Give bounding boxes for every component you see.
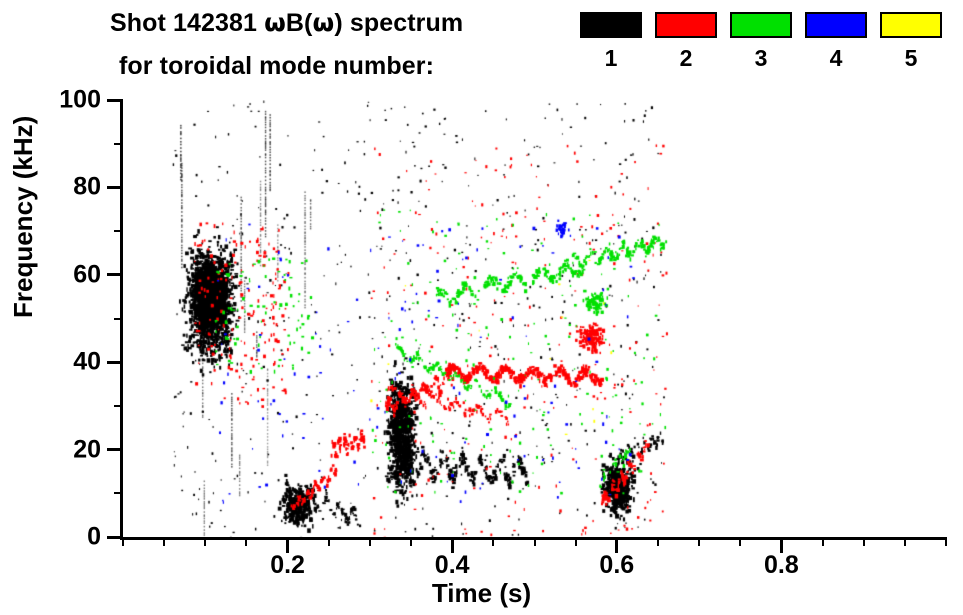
y-tick-minor-70 [114,230,123,232]
legend-label-4: 4 [805,45,867,71]
omega-symbol-1: ω [264,8,286,37]
legend-swatch-1 [580,12,642,38]
x-tick-minor-0.7 [698,537,700,546]
x-tick-minor-0.3 [369,537,371,546]
y-tick-minor-10 [114,492,123,494]
legend: 12345 [580,12,955,90]
x-tick-minor-0.65 [657,537,659,546]
x-tick-minor-0.85 [822,537,824,546]
y-tick-major-60 [107,273,123,276]
y-tick-label-20: 20 [73,435,101,464]
omega-symbol-2: ω [313,8,335,37]
x-tick-minor-0.25 [328,537,330,546]
x-tick-minor-0.05 [163,537,165,546]
y-tick-label-40: 40 [73,348,101,377]
x-axis-title: Time (s) [0,578,963,609]
legend-label-5: 5 [880,45,942,71]
y-tick-label-100: 100 [59,86,101,115]
x-tick-label-0.4: 0.4 [435,551,470,580]
x-tick-minor-0.75 [739,537,741,546]
legend-swatch-3 [730,12,792,38]
spectrogram-figure: Shot 142381 ωB(ω) spectrum for toroidal … [0,0,963,615]
x-tick-minor-0.55 [575,537,577,546]
x-tick-minor-0.35 [410,537,412,546]
x-tick-minor-0.15 [245,537,247,546]
title-prefix: Shot 142381 [110,9,264,37]
y-tick-major-40 [107,361,123,364]
legend-label-3: 3 [730,45,792,71]
y-tick-label-80: 80 [73,173,101,202]
legend-label-2: 2 [655,45,717,71]
x-tick-minor-0 [122,537,124,546]
y-tick-label-0: 0 [87,523,101,552]
x-tick-minor-1 [945,537,947,546]
y-tick-minor-30 [114,405,123,407]
legend-label-1: 1 [580,45,642,71]
legend-swatch-4 [805,12,867,38]
title-suffix: ) spectrum [334,9,463,37]
legend-item-1[interactable]: 1 [580,12,642,71]
plot-area: 0204060801000.20.40.60.8 [120,100,946,540]
x-tick-minor-0.95 [904,537,906,546]
y-tick-minor-90 [114,143,123,145]
y-tick-major-80 [107,186,123,189]
x-tick-minor-0.1 [204,537,206,546]
y-tick-minor-50 [114,318,123,320]
y-axis-title: Frequency (kHz) [8,116,39,318]
figure-title-line-1: Shot 142381 ωB(ω) spectrum [110,8,463,38]
x-tick-minor-0.45 [492,537,494,546]
spectrogram-canvas [123,100,946,537]
x-tick-label-0.8: 0.8 [764,551,799,580]
x-tick-minor-0.5 [534,537,536,546]
legend-item-4[interactable]: 4 [805,12,867,71]
x-tick-label-0.2: 0.2 [270,551,305,580]
y-tick-major-100 [107,99,123,102]
title-mid: B( [286,9,313,37]
y-tick-major-20 [107,448,123,451]
legend-swatch-5 [880,12,942,38]
legend-item-5[interactable]: 5 [880,12,942,71]
y-tick-label-60: 60 [73,260,101,289]
legend-swatch-2 [655,12,717,38]
legend-item-2[interactable]: 2 [655,12,717,71]
legend-item-3[interactable]: 3 [730,12,792,71]
figure-title-line-2: for toroidal mode number: [119,52,434,81]
x-tick-minor-0.9 [863,537,865,546]
x-tick-label-0.6: 0.6 [599,551,634,580]
y-tick-major-0 [107,536,123,539]
